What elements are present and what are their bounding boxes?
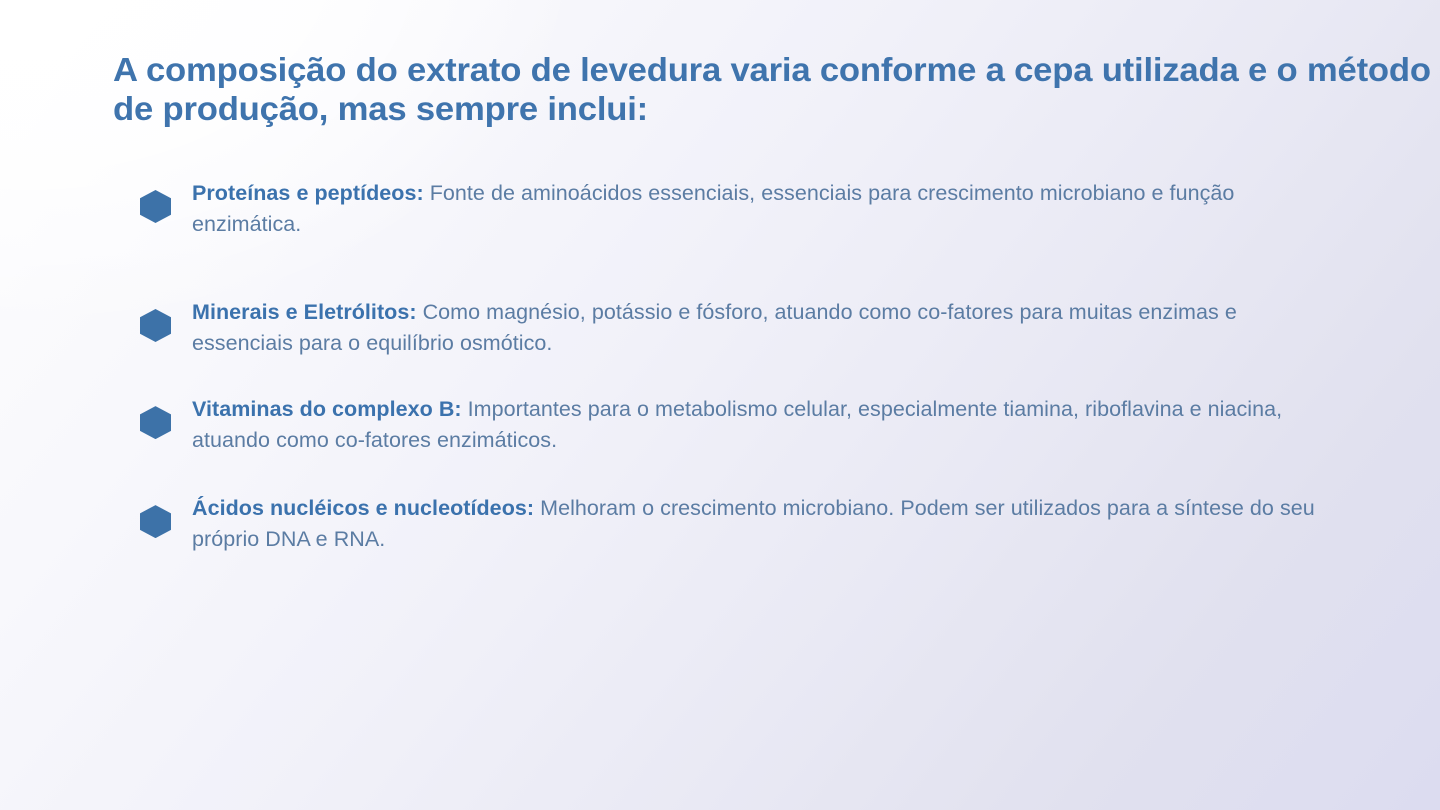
hexagon-bullet-icon [140, 406, 171, 439]
list-item-text: Vitaminas do complexo B: Importantes par… [192, 394, 1340, 455]
list-item-label: Proteínas e peptídeos: [192, 181, 424, 205]
hexagon-bullet-icon [140, 309, 171, 342]
page-title: A composição do extrato de levedura vari… [113, 52, 1440, 130]
list-item-label: Vitaminas do complexo B: [192, 397, 462, 421]
list-item-text: Proteínas e peptídeos: Fonte de aminoáci… [192, 178, 1340, 239]
list-item: Ácidos nucléicos e nucleotídeos: Melhora… [140, 493, 1340, 554]
bullet-list: Proteínas e peptídeos: Fonte de aminoáci… [140, 178, 1340, 554]
list-item: Proteínas e peptídeos: Fonte de aminoáci… [140, 178, 1340, 239]
list-item: Minerais e Eletrólitos: Como magnésio, p… [140, 297, 1340, 358]
list-item-text: Ácidos nucléicos e nucleotídeos: Melhora… [192, 493, 1340, 554]
list-item-label: Minerais e Eletrólitos: [192, 300, 417, 324]
list-item-text: Minerais e Eletrólitos: Como magnésio, p… [192, 297, 1340, 358]
title-block: A composição do extrato de levedura vari… [113, 52, 1403, 130]
list-item: Vitaminas do complexo B: Importantes par… [140, 394, 1340, 455]
hexagon-bullet-icon [140, 190, 171, 223]
list-item-label: Ácidos nucléicos e nucleotídeos: [192, 496, 534, 520]
slide-canvas: A composição do extrato de levedura vari… [0, 0, 1440, 810]
hexagon-bullet-icon [140, 505, 171, 538]
